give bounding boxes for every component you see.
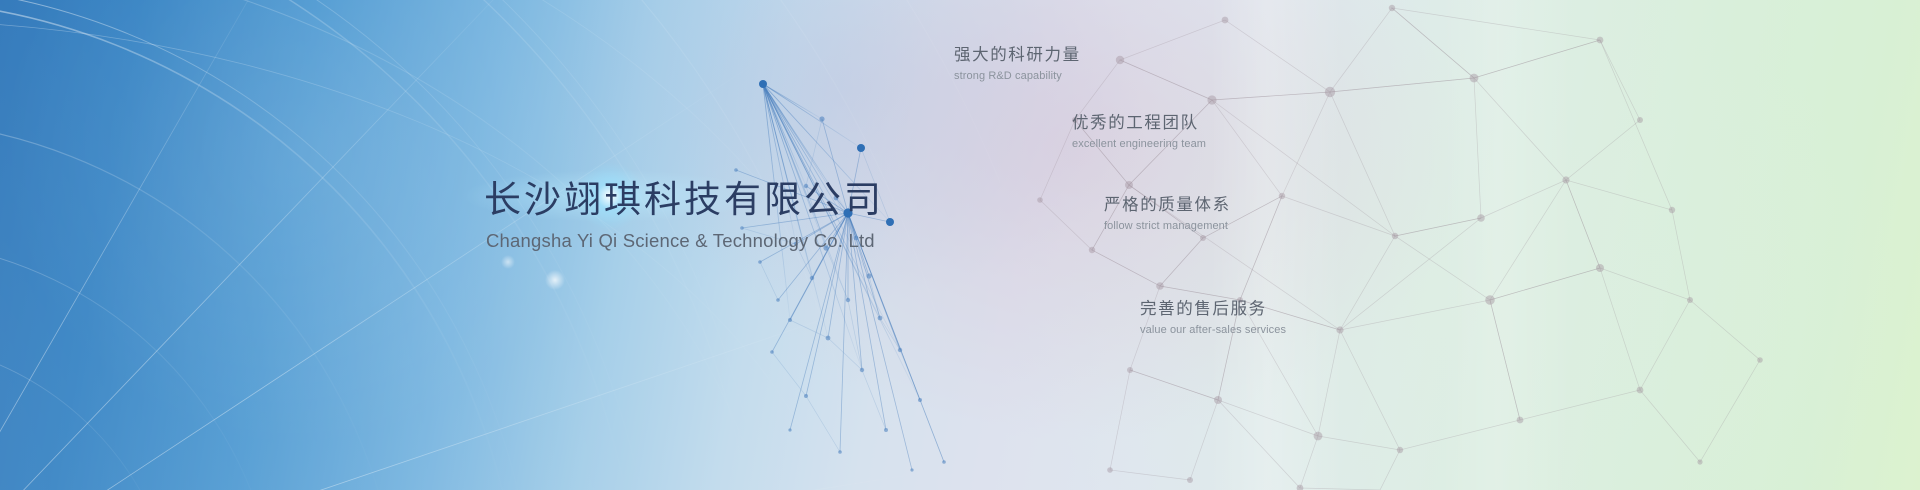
- feature-title-cn: 完善的售后服务: [1140, 298, 1286, 320]
- feature-item-rd: 强大的科研力量 strong R&D capability: [954, 44, 1081, 84]
- feature-item-after-sales: 完善的售后服务 value our after-sales services: [1140, 298, 1286, 338]
- feature-title-en: strong R&D capability: [954, 69, 1081, 83]
- feature-title-cn: 严格的质量体系: [1104, 194, 1231, 216]
- company-title-block: 长沙翊琪科技有限公司 Changsha Yi Qi Science & Tech…: [484, 178, 1044, 252]
- feature-anchor-node-0: [759, 80, 767, 88]
- feature-title-en: value our after-sales services: [1140, 323, 1286, 337]
- feature-title-en: excellent engineering team: [1072, 137, 1206, 151]
- feature-item-quality-system: 严格的质量体系 follow strict management: [1104, 194, 1231, 234]
- feature-item-engineering-team: 优秀的工程团队 excellent engineering team: [1072, 112, 1206, 152]
- feature-title-cn: 优秀的工程团队: [1072, 112, 1206, 134]
- hero-banner: 长沙翊琪科技有限公司 Changsha Yi Qi Science & Tech…: [0, 0, 1920, 490]
- company-name-en: Changsha Yi Qi Science & Technology Co. …: [486, 230, 1044, 252]
- feature-anchor-node-1: [857, 144, 865, 152]
- feature-title-en: follow strict management: [1104, 219, 1231, 233]
- feature-title-cn: 强大的科研力量: [954, 44, 1081, 66]
- company-name-cn: 长沙翊琪科技有限公司: [484, 178, 1044, 224]
